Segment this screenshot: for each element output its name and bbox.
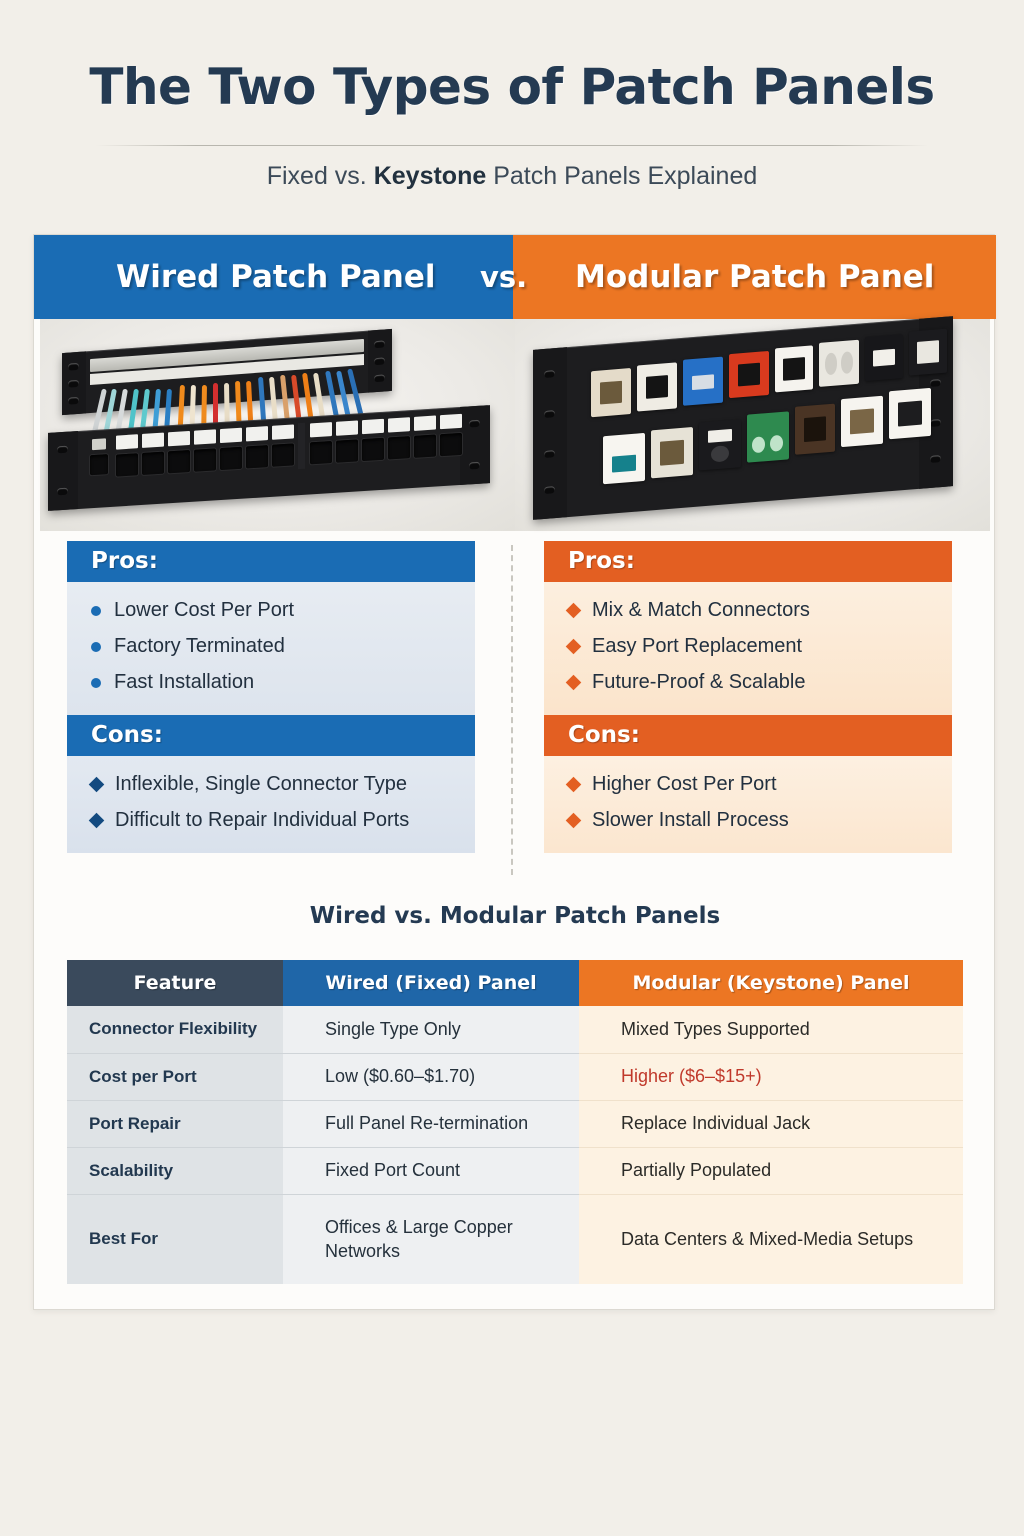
list-item: Higher Cost Per Port	[568, 772, 934, 797]
row-modular-value: Mixed Types Supported	[579, 1006, 963, 1053]
modular-panel-graphic	[533, 316, 953, 520]
bullet-dot-icon	[91, 678, 101, 688]
row-modular-value: Partially Populated	[579, 1147, 963, 1194]
list-item-label: Slower Install Process	[592, 808, 789, 833]
bullet-diamond-icon	[566, 777, 582, 793]
banner-wired-side: Wired Patch Panel	[34, 235, 513, 319]
page-subtitle: Fixed vs. Keystone Patch Panels Explaine…	[0, 162, 1024, 191]
list-item: Lower Cost Per Port	[91, 598, 457, 623]
wired-cons-list: Inflexible, Single Connector Type Diffic…	[67, 756, 475, 853]
row-feature: Best For	[67, 1194, 283, 1284]
comparison-table: Feature Wired (Fixed) Panel Modular (Key…	[67, 960, 963, 1284]
row-wired-value: Offices & Large Copper Networks	[283, 1194, 579, 1284]
row-modular-value: Higher ($6–$15+)	[579, 1053, 963, 1100]
banner-vs-label: vs.	[480, 235, 527, 319]
banner-wired-label: Wired Patch Panel	[116, 235, 436, 319]
list-item: Difficult to Repair Individual Ports	[91, 808, 457, 833]
bullet-diamond-icon	[566, 603, 582, 619]
modular-pros-heading: Pros:	[544, 541, 952, 582]
row-modular-value: Data Centers & Mixed-Media Setups	[579, 1194, 963, 1284]
list-item: Future-Proof & Scalable	[568, 670, 934, 695]
comparison-banner: Wired Patch Panel Modular Patch Panel vs…	[34, 235, 996, 319]
subtitle-suffix: Patch Panels Explained	[486, 162, 757, 190]
modular-cons-list: Higher Cost Per Port Slower Install Proc…	[544, 756, 952, 853]
bullet-diamond-icon	[566, 675, 582, 691]
subtitle-emphasis: Keystone	[374, 162, 487, 190]
title-divider	[96, 145, 928, 146]
table-header-modular: Modular (Keystone) Panel	[579, 960, 963, 1006]
list-item: Factory Terminated	[91, 634, 457, 659]
row-wired-value: Full Panel Re-termination	[283, 1100, 579, 1147]
row-wired-value: Low ($0.60–$1.70)	[283, 1053, 579, 1100]
table-header-row: Feature Wired (Fixed) Panel Modular (Key…	[67, 960, 963, 1006]
list-item: Fast Installation	[91, 670, 457, 695]
table-row: Connector Flexibility Single Type Only M…	[67, 1006, 963, 1053]
list-item: Easy Port Replacement	[568, 634, 934, 659]
table-row: Cost per Port Low ($0.60–$1.70) Higher (…	[67, 1053, 963, 1100]
bullet-diamond-icon	[89, 813, 105, 829]
infographic-page: The Two Types of Patch Panels Fixed vs. …	[0, 0, 1024, 1536]
list-item-label: Inflexible, Single Connector Type	[115, 772, 407, 797]
table-row: Port Repair Full Panel Re-termination Re…	[67, 1100, 963, 1147]
modular-cons-heading: Cons:	[544, 715, 952, 756]
table-header-feature: Feature	[67, 960, 283, 1006]
bullet-dot-icon	[91, 642, 101, 652]
list-item-label: Mix & Match Connectors	[592, 598, 810, 623]
row-feature: Connector Flexibility	[67, 1006, 283, 1053]
list-item-label: Fast Installation	[114, 670, 254, 695]
list-item-label: Higher Cost Per Port	[592, 772, 777, 797]
banner-modular-side: Modular Patch Panel	[513, 235, 996, 319]
modular-proscons-column: Pros: Mix & Match Connectors Easy Port R…	[544, 541, 952, 853]
modular-patch-panel-photo	[515, 319, 990, 531]
table-row: Scalability Fixed Port Count Partially P…	[67, 1147, 963, 1194]
list-item-label: Easy Port Replacement	[592, 634, 802, 659]
row-feature: Cost per Port	[67, 1053, 283, 1100]
front-panel-graphic	[48, 405, 490, 511]
list-item-label: Future-Proof & Scalable	[592, 670, 805, 695]
content-card: Wired Patch Panel Modular Patch Panel vs…	[33, 234, 995, 1310]
list-item: Mix & Match Connectors	[568, 598, 934, 623]
list-item-label: Lower Cost Per Port	[114, 598, 294, 623]
wired-proscons-column: Pros: Lower Cost Per Port Factory Termin…	[67, 541, 475, 853]
modular-pros-list: Mix & Match Connectors Easy Port Replace…	[544, 582, 952, 715]
table-row: Best For Offices & Large Copper Networks…	[67, 1194, 963, 1284]
row-modular-value: Replace Individual Jack	[579, 1100, 963, 1147]
row-feature: Port Repair	[67, 1100, 283, 1147]
bullet-diamond-icon	[566, 813, 582, 829]
bullet-diamond-icon	[566, 639, 582, 655]
table-header-wired: Wired (Fixed) Panel	[283, 960, 579, 1006]
table-title: Wired vs. Modular Patch Panels	[34, 903, 996, 929]
list-item: Slower Install Process	[568, 808, 934, 833]
row-wired-value: Fixed Port Count	[283, 1147, 579, 1194]
subtitle-prefix: Fixed vs.	[267, 162, 374, 190]
list-item-label: Difficult to Repair Individual Ports	[115, 808, 409, 833]
row-wired-value: Single Type Only	[283, 1006, 579, 1053]
wired-patch-panel-photo	[40, 319, 515, 531]
list-item-label: Factory Terminated	[114, 634, 285, 659]
product-photo-row	[34, 319, 996, 531]
column-divider	[511, 545, 513, 875]
row-feature: Scalability	[67, 1147, 283, 1194]
bullet-dot-icon	[91, 606, 101, 616]
page-title: The Two Types of Patch Panels	[0, 58, 1024, 116]
bullet-diamond-icon	[89, 777, 105, 793]
wired-pros-heading: Pros:	[67, 541, 475, 582]
wired-cons-heading: Cons:	[67, 715, 475, 756]
banner-modular-label: Modular Patch Panel	[575, 235, 934, 319]
wired-pros-list: Lower Cost Per Port Factory Terminated F…	[67, 582, 475, 715]
list-item: Inflexible, Single Connector Type	[91, 772, 457, 797]
